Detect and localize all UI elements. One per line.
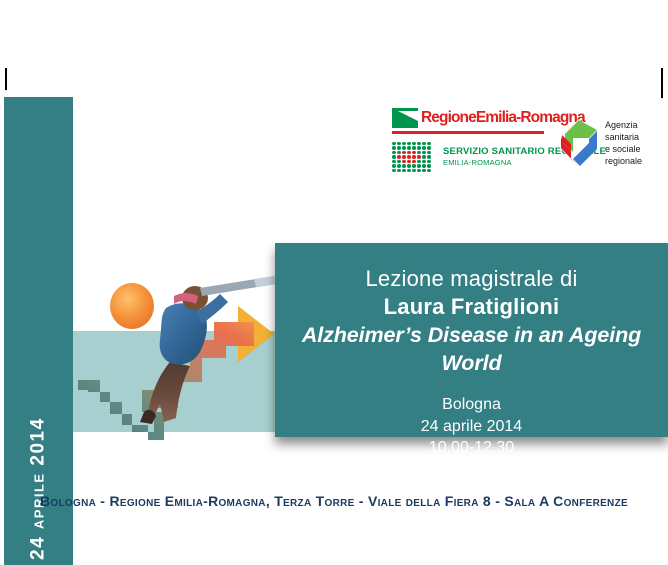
sidebar-vertical-date-text: Bologna - 24 aprile 2014 xyxy=(28,417,50,565)
agenzia-chevron-icon xyxy=(558,118,600,168)
agenzia-label-group: Agenzia sanitaria e sociale regionale xyxy=(605,119,642,168)
telescope-lens xyxy=(254,276,276,287)
event-date: 24 aprile 2014 xyxy=(275,416,668,438)
agenzia-line-3: e sociale xyxy=(605,143,642,155)
venue-footer-text: Bologna - Regione Emilia-Romagna, Terza … xyxy=(0,493,668,509)
regione-flag-icon xyxy=(392,108,418,128)
agenzia-line-2: sanitaria xyxy=(605,131,642,143)
regione-logo-top-row: RegioneEmilia-Romagna xyxy=(392,108,544,130)
logo-group: RegioneEmilia-Romagna SERVIZIO SANITARIO… xyxy=(392,108,648,188)
regione-red-rule xyxy=(392,131,544,134)
agenzia-line-4: regionale xyxy=(605,155,642,167)
climber-boot xyxy=(140,410,156,424)
regione-emilia-romagna-logo: RegioneEmilia-Romagna xyxy=(392,108,544,134)
ssr-dot-matrix-icon xyxy=(392,142,436,172)
event-details-group: Bologna 24 aprile 2014 10.00-12.30 xyxy=(275,394,668,459)
crop-mark-left xyxy=(5,68,7,90)
sun-shape xyxy=(110,283,154,329)
lecture-title: Alzheimer’s Disease in an Ageing World xyxy=(275,322,668,378)
speaker-name: Laura Fratiglioni xyxy=(275,293,668,321)
event-time: 10.00-12.30 xyxy=(275,437,668,459)
lecture-label: Lezione magistrale di xyxy=(275,265,668,293)
main-announcement-banner: Lezione magistrale di Laura Fratiglioni … xyxy=(275,243,668,437)
poster-canvas: Bologna - 24 aprile 2014 RegioneEmilia-R… xyxy=(0,0,668,565)
event-city: Bologna xyxy=(275,394,668,416)
illustration-climber-with-telescope xyxy=(78,262,288,440)
agenzia-line-1: Agenzia xyxy=(605,119,642,131)
crop-mark-right xyxy=(661,68,663,98)
agenzia-sanitaria-sociale-logo: Agenzia sanitaria e sociale regionale xyxy=(558,118,642,168)
